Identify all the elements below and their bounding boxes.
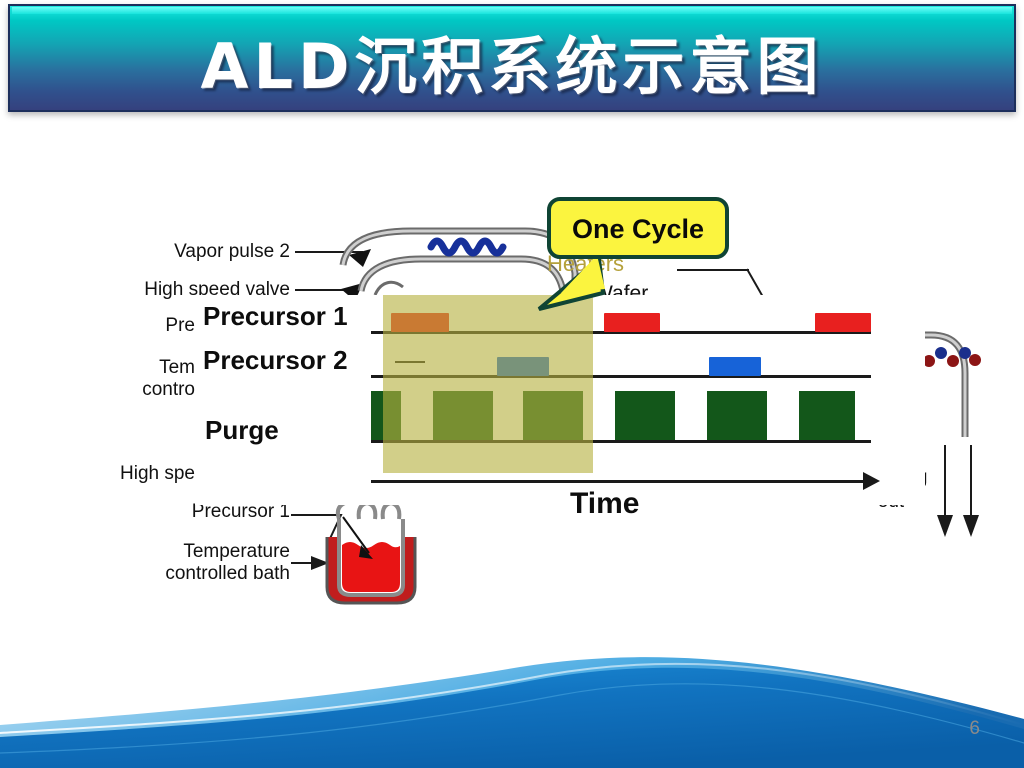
time-axis-label: Time	[570, 487, 639, 521]
timing-diagram: Precursor 1 Precursor 2 Purge	[195, 295, 925, 505]
ald-system-figure: Vapor pulse 2 High speed valve Pre Tem c…	[95, 175, 965, 635]
time-axis	[371, 480, 867, 483]
purge-block-5	[707, 391, 767, 440]
page-title: ALD沉积系统示意图	[10, 16, 1014, 106]
time-axis-arrowhead	[863, 472, 880, 490]
one-cycle-callout: One Cycle	[547, 197, 729, 259]
timing-label-purge: Purge	[205, 415, 279, 446]
pulse-precursor-1-b	[604, 313, 660, 332]
label-controlled-occluded: contro	[85, 379, 195, 400]
timing-label-precursor-2: Precursor 2	[203, 345, 348, 376]
slide: ALD沉积系统示意图 Vapor pulse 2 High speed valv…	[0, 0, 1024, 768]
purge-block-6	[799, 391, 855, 440]
label-high-speed-valve-bottom: High spe	[90, 463, 195, 484]
footer-wave-decoration	[0, 633, 1024, 768]
label-temp-bath-line2: controlled bath	[115, 563, 290, 584]
precursor-bubbler-flask	[313, 495, 433, 615]
one-cycle-callout-text: One Cycle	[551, 214, 725, 245]
pulse-precursor-2-b	[709, 357, 761, 376]
pulse-precursor-1-c	[815, 313, 871, 332]
purge-block-4	[615, 391, 675, 440]
label-precursor-2-occluded: Pre	[135, 315, 195, 336]
label-temp-bath-line1: Temperature	[125, 541, 290, 562]
leader-heaters	[677, 269, 749, 271]
slide-title-bar: ALD沉积系统示意图	[8, 4, 1016, 112]
callout-tail	[537, 253, 607, 315]
page-number: 6	[969, 718, 980, 740]
one-cycle-highlight	[383, 295, 593, 473]
label-vapor-pulse-2: Vapor pulse 2	[90, 241, 290, 262]
label-temperature-occluded: Tem	[125, 357, 195, 378]
timing-label-precursor-1: Precursor 1	[203, 301, 348, 332]
